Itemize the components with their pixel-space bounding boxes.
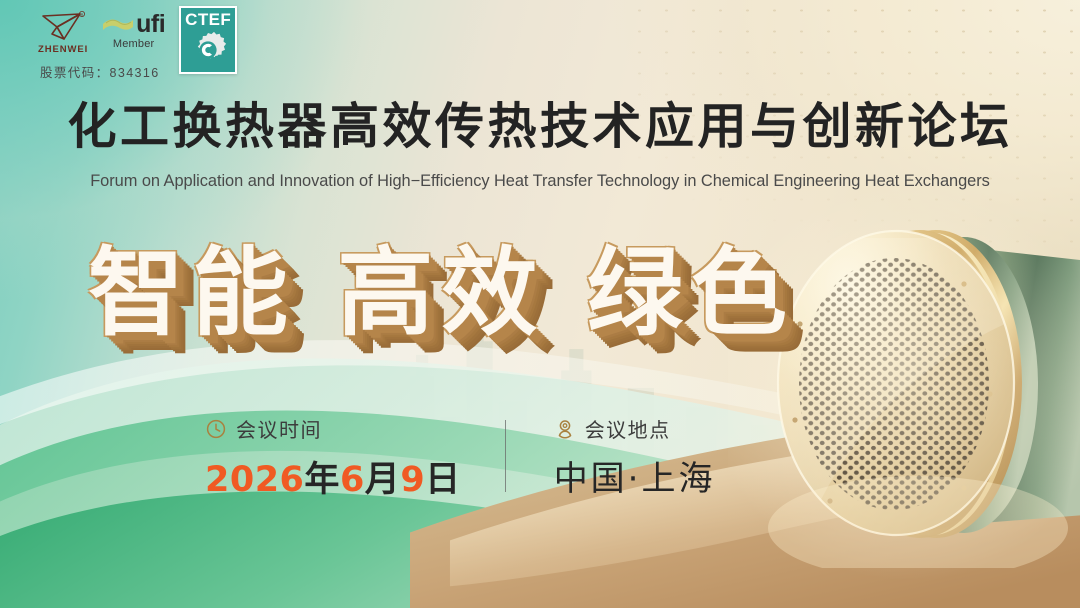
event-month: 6 xyxy=(340,460,365,500)
ufi-swoosh-mark xyxy=(102,15,135,35)
clock-icon xyxy=(205,418,227,440)
event-location-label: 会议地点 xyxy=(585,414,671,443)
event-year-unit: 年 xyxy=(304,460,340,500)
event-time-value: 2026年6月9日 xyxy=(205,451,461,502)
event-month-unit: 月 xyxy=(365,460,401,500)
zhenwei-wordmark: ZHENWEI xyxy=(38,44,88,55)
location-pin-icon xyxy=(554,418,576,440)
ctef-wordmark: CTEF xyxy=(185,11,231,29)
zhenwei-arrow-mark: R xyxy=(40,10,86,42)
event-time-block: 会议时间 2026年6月9日 xyxy=(205,414,461,502)
event-location-value: 中国·上海 xyxy=(554,451,716,500)
event-day-unit: 日 xyxy=(425,460,461,500)
slogan-text: 智能 高效 绿色 xyxy=(88,245,795,341)
heat-exchanger-image xyxy=(768,198,1080,568)
page-title-en: Forum on Application and Innovation of H… xyxy=(20,172,1060,191)
page-title-cn: 化工换热器高效传热技术应用与创新论坛 xyxy=(35,101,1045,152)
info-divider xyxy=(505,420,506,492)
ctef-logo[interactable]: CTEF xyxy=(179,6,237,74)
event-time-label: 会议时间 xyxy=(236,414,322,443)
event-day: 9 xyxy=(400,460,425,500)
stock-code: 股票代码：834316 xyxy=(40,62,160,81)
ufi-wordmark: ufi xyxy=(136,12,165,37)
zhenwei-logo[interactable]: R ZHENWEI xyxy=(38,6,88,55)
heat-exchanger-tube-sheet-illustration xyxy=(768,198,1080,568)
ctef-gear-icon xyxy=(188,30,228,70)
event-location-block: 会议地点 中国·上海 xyxy=(554,414,716,500)
ufi-logo[interactable]: ufi Member xyxy=(102,6,165,50)
banner-canvas: R ZHENWEI ufi Member CTEF xyxy=(0,0,1080,608)
event-year: 2026 xyxy=(205,460,304,500)
event-info-row: 会议时间 2026年6月9日 会议地点 中国·上海 xyxy=(205,414,716,502)
ufi-member-label: Member xyxy=(113,38,155,50)
